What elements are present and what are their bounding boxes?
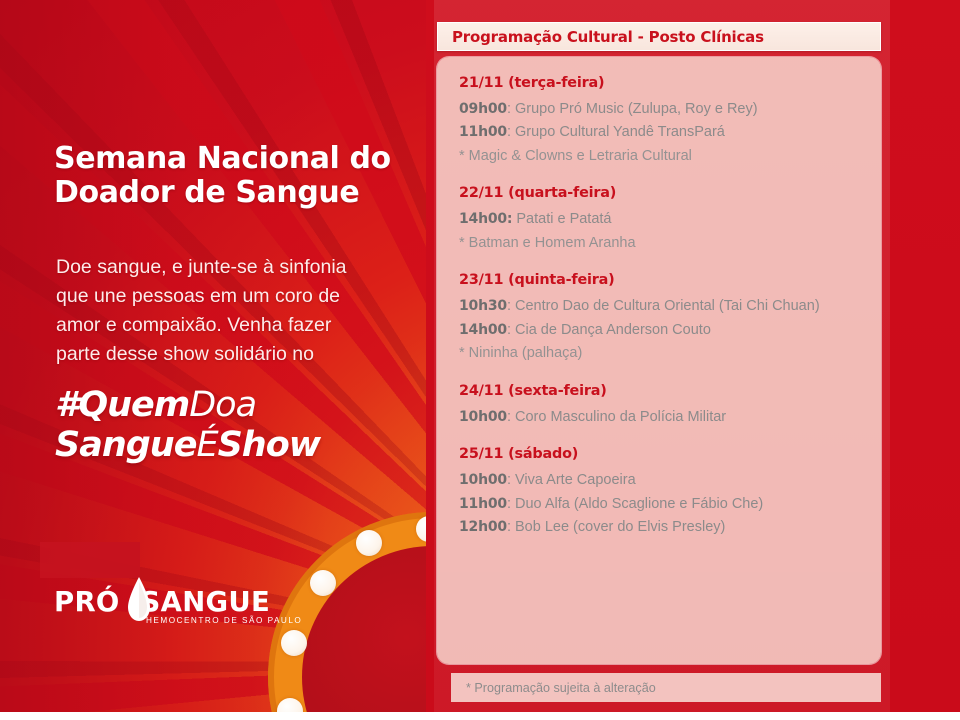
schedule-event-separator: :	[507, 409, 515, 425]
schedule-event-row: 10h00: Coro Masculino da Polícia Militar	[459, 406, 861, 429]
schedule-day-note: * Magic & Clowns e Letraria Cultural	[459, 145, 861, 168]
schedule-header-bar: Programação Cultural - Posto Clínicas	[437, 22, 881, 51]
schedule-event-time: 14h00	[459, 322, 507, 338]
schedule-event-time: 09h00	[459, 101, 507, 117]
schedule-event-description: Grupo Cultural Yandê TransPará	[515, 124, 725, 140]
hashtag-quem: #Quem	[55, 385, 189, 425]
schedule-day-block: 21/11 (terça-feira)09h00: Grupo Pró Musi…	[459, 75, 861, 168]
schedule-day-note: * Batman e Homem Aranha	[459, 232, 861, 255]
schedule-day-date: 24/11 (sexta-feira)	[459, 383, 861, 399]
schedule-event-time: 11h00	[459, 124, 507, 140]
schedule-event-separator: :	[507, 298, 515, 314]
bottom-margin	[0, 712, 960, 720]
hashtag-line-2: SangueÉShow	[55, 426, 425, 466]
schedule-event-row: 14h00: Patati e Patatá	[459, 208, 861, 231]
schedule-day-date: 23/11 (quinta-feira)	[459, 272, 861, 288]
marquee-bulb	[356, 530, 382, 556]
schedule-event-row: 09h00: Grupo Pró Music (Zulupa, Roy e Re…	[459, 98, 861, 121]
schedule-event-row: 11h00: Grupo Cultural Yandê TransPará	[459, 121, 861, 144]
subcopy-line-2: que une pessoas em um coro de	[56, 282, 406, 311]
hashtag-e: É	[196, 425, 217, 465]
schedule-event-description: Coro Masculino da Polícia Militar	[515, 409, 726, 425]
schedule-event-description: Bob Lee (cover do Elvis Presley)	[515, 519, 725, 535]
schedule-day-date: 25/11 (sábado)	[459, 446, 861, 462]
logo-wordmark: PRÓ..SANGUE	[54, 586, 270, 618]
poster-headline: Semana Nacional do Doador de Sangue	[54, 142, 424, 210]
logo-pro-text: PRÓ	[54, 586, 119, 618]
subcopy-line-4: parte desse show solidário no	[56, 340, 406, 369]
schedule-panel: Programação Cultural - Posto Clínicas 21…	[426, 0, 960, 712]
schedule-day-block: 24/11 (sexta-feira)10h00: Coro Masculino…	[459, 383, 861, 429]
schedule-event-separator: :	[507, 322, 515, 338]
schedule-disclaimer: * Programação sujeita à alteração	[466, 681, 656, 695]
schedule-title: Programação Cultural - Posto Clínicas	[452, 28, 764, 46]
schedule-event-time: 14h00:	[459, 211, 512, 227]
poster-subcopy: Doe sangue, e junte-se à sinfonia que un…	[56, 253, 406, 368]
schedule-event-separator: :	[507, 101, 515, 117]
schedule-event-time: 12h00	[459, 519, 507, 535]
hashtag-doa: Doa	[189, 385, 256, 425]
schedule-event-row: 11h00: Duo Alfa (Aldo Scaglione e Fábio …	[459, 493, 861, 516]
schedule-event-description: Duo Alfa (Aldo Scaglione e Fábio Che)	[515, 496, 763, 512]
schedule-event-row: 14h00: Cia de Dança Anderson Couto	[459, 319, 861, 342]
schedule-event-description: Cia de Dança Anderson Couto	[515, 322, 711, 338]
schedule-list: 21/11 (terça-feira)09h00: Grupo Pró Musi…	[437, 57, 881, 664]
marquee-bulb	[310, 570, 336, 596]
hashtag-show: Show	[218, 425, 321, 465]
schedule-event-description: Centro Dao de Cultura Oriental (Tai Chi …	[515, 298, 820, 314]
schedule-event-time: 10h30	[459, 298, 507, 314]
schedule-event-time: 11h00	[459, 496, 507, 512]
schedule-event-row: 10h00: Viva Arte Capoeira	[459, 469, 861, 492]
pro-sangue-logo: PRÓ..SANGUE HEMOCENTRO DE SÃO PAULO	[40, 542, 300, 634]
hashtag-line-1: #QuemDoa	[55, 386, 425, 426]
schedule-day-date: 22/11 (quarta-feira)	[459, 185, 861, 201]
poster-screenshot: Semana Nacional do Doador de Sangue Doe …	[0, 0, 960, 720]
poster-hashtag: #QuemDoa SangueÉShow	[55, 386, 425, 466]
subcopy-line-1: Doe sangue, e junte-se à sinfonia	[56, 253, 406, 282]
schedule-day-block: 25/11 (sábado)10h00: Viva Arte Capoeira1…	[459, 446, 861, 539]
schedule-footer-bar: * Programação sujeita à alteração	[451, 673, 881, 702]
schedule-event-time: 10h00	[459, 409, 507, 425]
headline-line-2: Doador de Sangue	[54, 176, 424, 210]
schedule-day-block: 22/11 (quarta-feira)14h00: Patati e Pata…	[459, 185, 861, 255]
logo-subtitle: HEMOCENTRO DE SÃO PAULO	[146, 616, 302, 625]
schedule-event-separator: :	[507, 496, 515, 512]
schedule-event-description: Viva Arte Capoeira	[515, 472, 636, 488]
schedule-event-time: 10h00	[459, 472, 507, 488]
schedule-event-separator: :	[507, 472, 515, 488]
schedule-event-description: Grupo Pró Music (Zulupa, Roy e Rey)	[515, 101, 758, 117]
subcopy-line-3: amor e compaixão. Venha fazer	[56, 311, 406, 340]
schedule-event-row: 12h00: Bob Lee (cover do Elvis Presley)	[459, 516, 861, 539]
schedule-event-description: Patati e Patatá	[516, 211, 611, 227]
logo-color-swatch	[40, 542, 140, 578]
schedule-event-row: 10h30: Centro Dao de Cultura Oriental (T…	[459, 295, 861, 318]
schedule-event-separator: :	[507, 519, 515, 535]
hashtag-sangue: Sangue	[55, 425, 196, 465]
schedule-day-date: 21/11 (terça-feira)	[459, 75, 861, 91]
logo-sangue-text: SANGUE	[141, 586, 271, 618]
schedule-day-block: 23/11 (quinta-feira)10h30: Centro Dao de…	[459, 272, 861, 365]
schedule-event-separator: :	[507, 124, 515, 140]
schedule-day-note: * Nininha (palhaça)	[459, 342, 861, 365]
headline-line-1: Semana Nacional do	[54, 142, 424, 176]
